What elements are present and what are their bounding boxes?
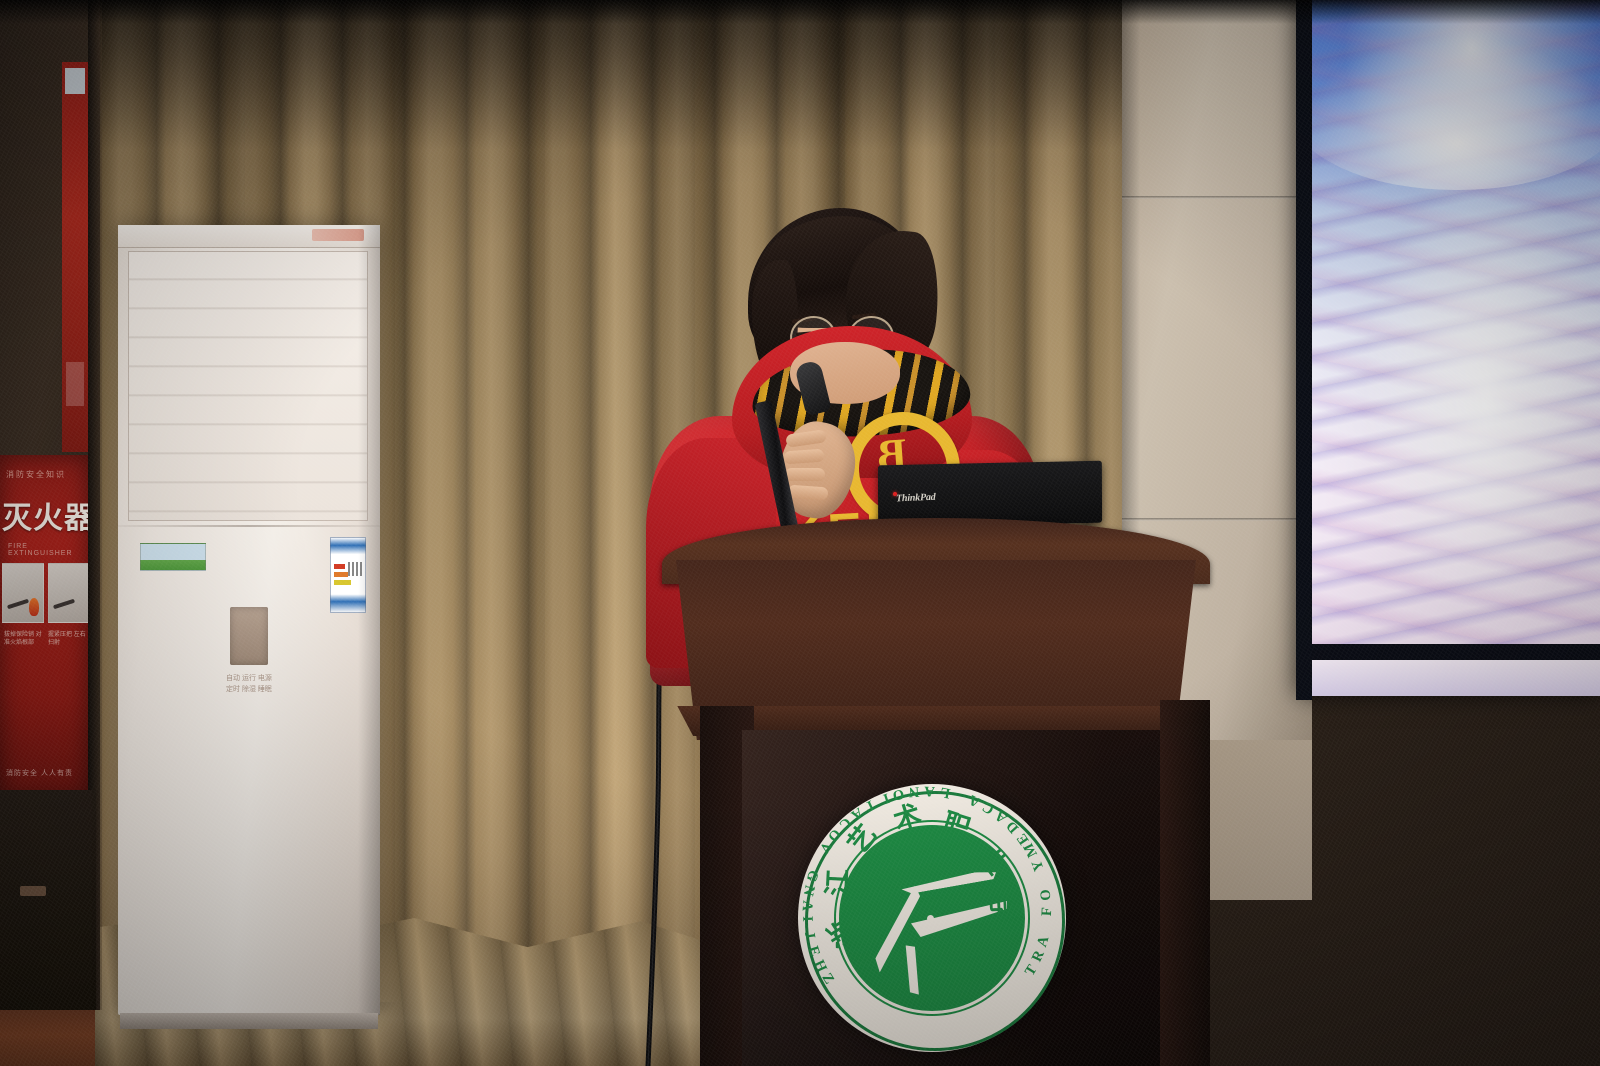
fire-extinguisher-poster: 消防安全知识 灭火器 FIRE EXTINGUISHER 拔掉保险销 对准火焰根… [0, 455, 88, 800]
fire-poster-caption-right: 握紧压把 左右扫射 [48, 631, 86, 647]
extinguisher-nozzle-icon [7, 599, 29, 610]
energy-bar [334, 564, 345, 569]
finger [784, 449, 825, 465]
projection-screen-image [1310, 0, 1600, 644]
air-conditioner-seam [118, 525, 380, 527]
emblem-english-char: A [1034, 934, 1053, 949]
fire-poster-subtitle: 消防安全知识 [6, 469, 66, 480]
fire-poster-title-en: FIRE EXTINGUISHER [8, 543, 88, 557]
emblem-english-char: A [798, 900, 816, 912]
poster-strip-band [66, 362, 84, 406]
projection-screen-image-lower [1310, 660, 1600, 696]
emblem-english-char: I [798, 916, 815, 922]
projection-screen [1296, 0, 1600, 696]
projection-cloud-arc [1292, 35, 1600, 191]
emblem-english-char: G [802, 867, 822, 883]
air-conditioner-top-sticker [312, 229, 364, 241]
energy-bar [334, 580, 351, 585]
finger [788, 485, 829, 501]
emblem-english-char: Z [818, 970, 838, 987]
finger [785, 468, 825, 481]
air-conditioner-grille-panel [128, 251, 368, 521]
academy-emblem: 浙江艺术职业学院 ZHEJIANG VOCATIONAL ACADEMY OF … [798, 784, 1066, 1052]
emblem-english-char [1036, 880, 1053, 887]
emblem-english-char: A [847, 803, 865, 823]
left-wall-base [0, 790, 96, 1010]
emblem-english-char: R [1029, 948, 1049, 965]
air-conditioner-inspection-sticker [140, 543, 206, 571]
emblem-english-char: Y [1029, 858, 1049, 874]
fire-poster-caption-left: 拔掉保险销 对准火焰根部 [4, 631, 42, 647]
air-conditioner-top-band [118, 225, 380, 248]
thinkpad-logo: ThinkPad [896, 492, 936, 505]
wall-scuff [20, 886, 46, 896]
emblem-english-char: F [1039, 907, 1056, 917]
extinguisher-nozzle-icon [53, 599, 75, 610]
emblem-english-char: D [1003, 817, 1023, 836]
air-conditioner: 自动 运行 电源 定时 除湿 睡眠 [118, 225, 380, 1015]
emblem-english-char: O [1038, 889, 1056, 902]
energy-bar [334, 572, 348, 577]
flame-icon [29, 598, 39, 616]
ceiling-shadow [0, 0, 1600, 24]
poster-strip [62, 62, 88, 452]
emblem-english-char: N [908, 782, 920, 800]
air-conditioner-control-labels[interactable]: 自动 运行 电源 定时 除湿 睡眠 [218, 673, 280, 695]
air-conditioner-air-outlet [230, 607, 268, 665]
emblem-english-char: J [800, 930, 818, 940]
fire-poster-image-left [2, 563, 44, 623]
wall-panel-seam [1122, 518, 1312, 521]
fire-poster-image-right [48, 563, 88, 623]
emblem-english-char: T [862, 795, 878, 815]
air-conditioner-grille [129, 252, 367, 520]
emblem-english-char: T [1022, 962, 1042, 979]
emblem-english-char: I [881, 789, 892, 807]
emblem-english-text: ZHEJIANG VOCATIONAL ACADEMY OF ART [798, 784, 1066, 1052]
fire-poster-footer: 消防安全 人人有责 [6, 768, 73, 778]
podium-side-face [1160, 700, 1210, 1066]
air-conditioner-side-shadow [358, 225, 380, 1015]
wall-panel-seam [1122, 196, 1312, 199]
emblem-english-char: A [966, 790, 983, 810]
emblem-english-char: L [939, 783, 952, 802]
emblem-english-char [1037, 927, 1054, 933]
emblem-english-char: O [891, 784, 905, 803]
photo-scene: 消防安全知识 灭火器 FIRE EXTINGUISHER 拔掉保险销 对准火焰根… [0, 0, 1600, 1066]
projection-screen-divider [1310, 644, 1600, 660]
emblem-english-char: N [799, 883, 818, 897]
emblem-english-char: A [924, 782, 936, 800]
projection-screen-bezel [1296, 0, 1312, 700]
poster-strip-highlight [65, 68, 85, 94]
fire-poster-title: 灭火器 [2, 503, 88, 535]
emblem-english-char [959, 788, 968, 805]
air-conditioner-base [120, 1013, 378, 1029]
emblem-english-char: E [804, 944, 823, 958]
